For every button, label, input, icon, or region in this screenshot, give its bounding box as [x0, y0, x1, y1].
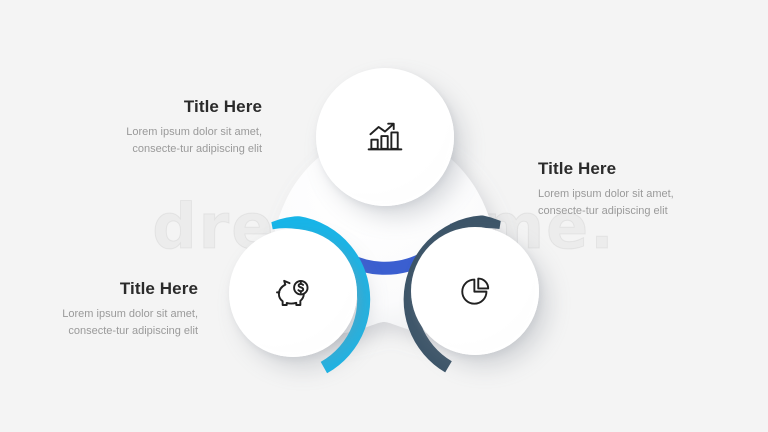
piggy-bank-icon [273, 273, 313, 313]
text-block-top: Title Here Lorem ipsum dolor sit amet, c… [82, 98, 262, 158]
title-top: Title Here [82, 98, 262, 117]
description-top: Lorem ipsum dolor sit amet, consecte-tur… [82, 124, 262, 158]
node-circle-bottom-right[interactable] [411, 227, 539, 355]
title-bottom-left: Title Here [18, 280, 198, 299]
node-circle-bottom-left[interactable] [229, 229, 357, 357]
text-block-bottom-right: Title Here Lorem ipsum dolor sit amet, c… [538, 160, 718, 220]
description-bottom-right: Lorem ipsum dolor sit amet, consecte-tur… [538, 186, 718, 220]
pie-chart-icon [455, 271, 495, 311]
node-circle-top[interactable] [316, 68, 454, 206]
infographic-stage: dreamstime. [0, 0, 768, 432]
description-bottom-left: Lorem ipsum dolor sit amet, consecte-tur… [18, 306, 198, 340]
text-block-bottom-left: Title Here Lorem ipsum dolor sit amet, c… [18, 280, 198, 340]
bar-chart-growth-icon [365, 117, 405, 157]
title-bottom-right: Title Here [538, 160, 718, 179]
